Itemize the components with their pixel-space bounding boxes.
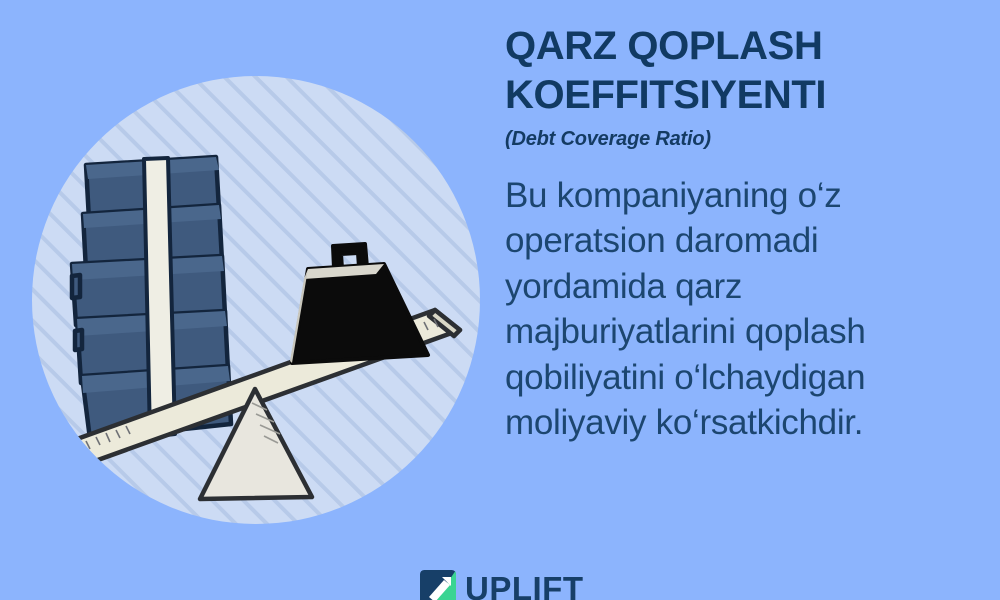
text-column: QARZ QOPLASH KOEFFITSIYENTI (Debt Covera… — [505, 22, 975, 446]
balance-scale-illustration — [20, 62, 490, 542]
uplift-arrow-logo-icon — [420, 570, 456, 600]
page-title: QARZ QOPLASH KOEFFITSIYENTI — [505, 22, 975, 120]
brand-logo[interactable]: UPLIFT — [420, 570, 583, 600]
brand-logo-text: UPLIFT — [465, 572, 583, 600]
money-strap — [144, 158, 175, 437]
infographic-card: QARZ QOPLASH KOEFFITSIYENTI (Debt Covera… — [0, 0, 1000, 600]
page-subtitle: (Debt Coverage Ratio) — [505, 128, 975, 151]
definition-body-text: Bu kompaniyaning o‘z operatsion daromadi… — [505, 173, 975, 446]
